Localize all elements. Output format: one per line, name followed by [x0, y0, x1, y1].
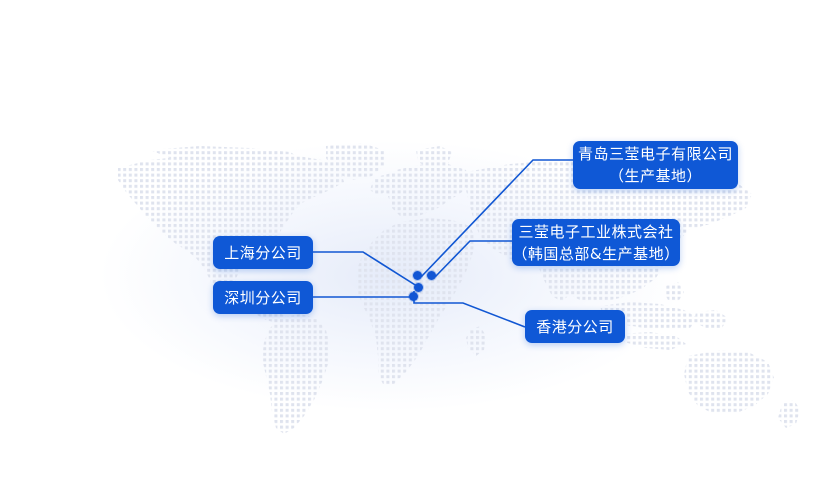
connector-korea: [435, 241, 512, 277]
node-korea[interactable]: [427, 271, 436, 280]
qingdao-label-line2: （生产基地）: [609, 165, 702, 187]
korea-label-line1: 三莹电子工业株式会社: [518, 221, 673, 243]
shanghai-label-text: 上海分公司: [224, 242, 302, 264]
hongkong-label[interactable]: 香港分公司: [525, 310, 625, 343]
connector-hongkong: [414, 291, 525, 327]
connector-lines: [0, 0, 824, 480]
qingdao-label-line1: 青岛三莹电子有限公司: [578, 143, 733, 165]
shenzhen-label-text: 深圳分公司: [224, 287, 302, 309]
qingdao-label[interactable]: 青岛三莹电子有限公司 （生产基地）: [573, 141, 738, 189]
hongkong-label-text: 香港分公司: [536, 316, 614, 338]
node-qingdao[interactable]: [413, 271, 422, 280]
connector-shanghai: [313, 252, 420, 288]
node-shanghai[interactable]: [414, 283, 423, 292]
korea-label-line2: （韩国总部&生产基地）: [512, 243, 679, 265]
shanghai-label[interactable]: 上海分公司: [213, 236, 313, 269]
korea-hq-label[interactable]: 三莹电子工业株式会社 （韩国总部&生产基地）: [512, 219, 680, 266]
location-map-diagram: 青岛三莹电子有限公司 （生产基地） 三莹电子工业株式会社 （韩国总部&生产基地）…: [0, 0, 824, 480]
shenzhen-label[interactable]: 深圳分公司: [213, 281, 313, 314]
node-shenzhen[interactable]: [409, 292, 418, 301]
